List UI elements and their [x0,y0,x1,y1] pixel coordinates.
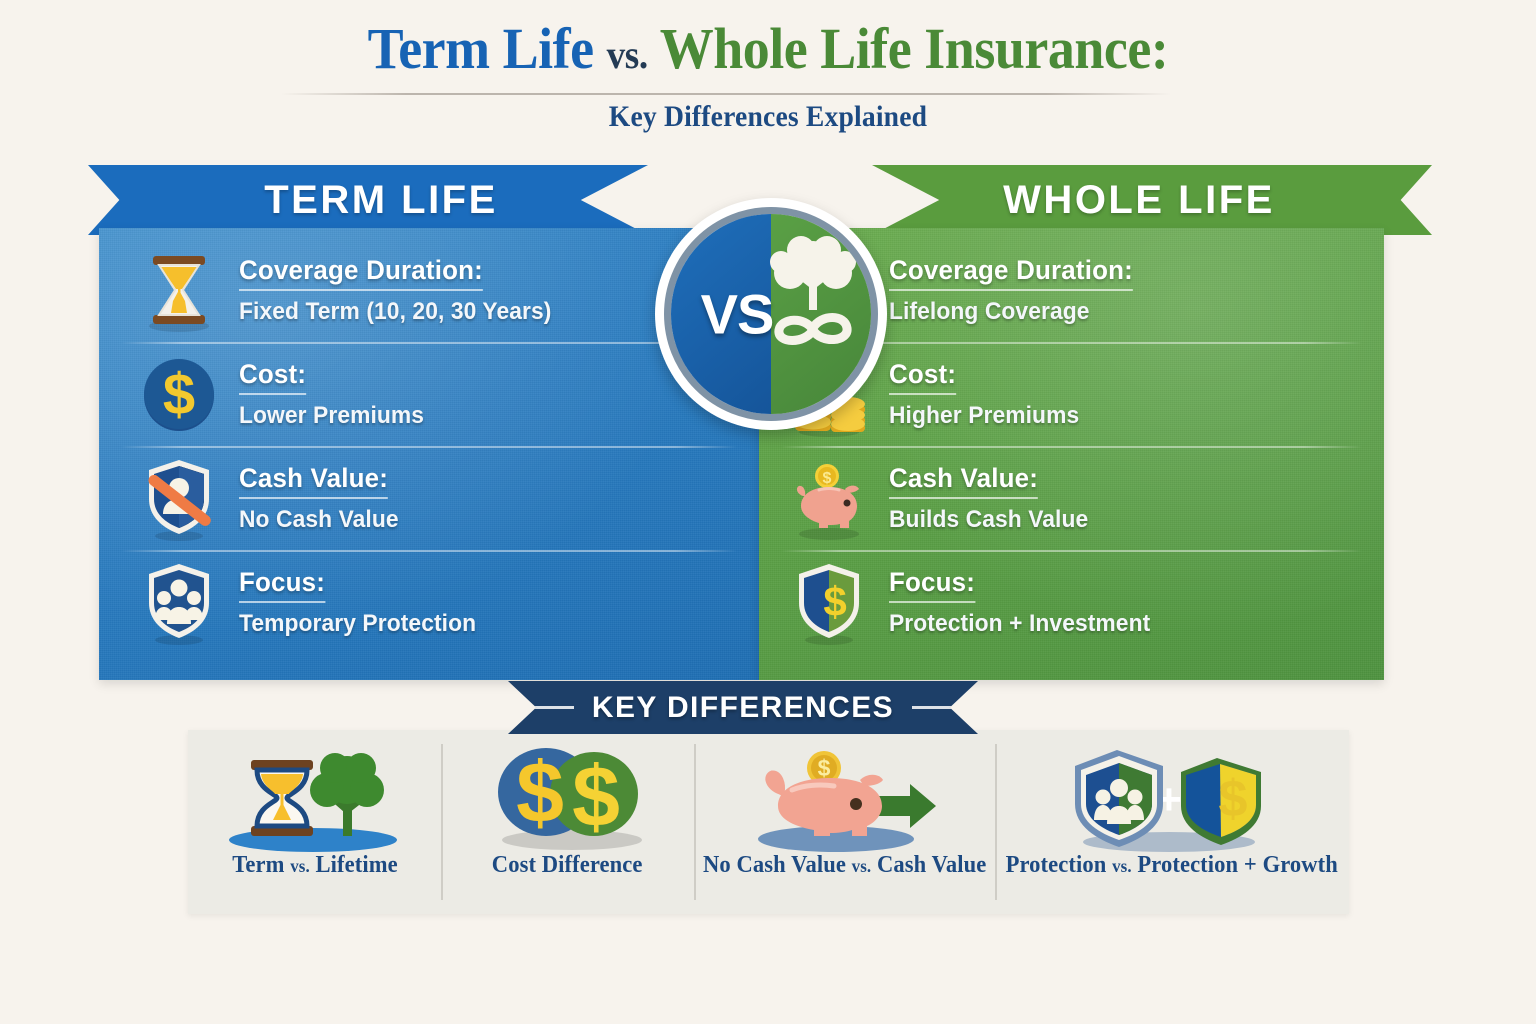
term-row-text: Cost: Lower Premiums [239,359,434,430]
svg-text:$: $ [823,470,832,487]
row-label: Cost: [889,359,956,395]
row-value: Temporary Protection [239,610,476,638]
row-value: No Cash Value [239,506,399,534]
svg-text:$: $ [163,362,195,427]
banner-dash-right [912,706,964,709]
svg-text:$: $ [516,745,564,841]
row-value: Protection + Investment [889,610,1150,638]
kd-card-term-vs-lifetime: Term vs. Lifetime [188,730,441,914]
dollar-coin-icon: $ [133,350,225,438]
term-row-focus: Focus: Temporary Protection [99,550,759,654]
row-label: Focus: [889,567,975,603]
whole-row-text: Cash Value: Builds Cash Value [889,463,1099,534]
kd-label-main: Protection [1006,852,1107,878]
kd-card-label: Protection vs. Protection + Growth [1006,852,1338,879]
row-label: Focus: [239,567,325,603]
whole-row-cash-value: $ Cash Value: Builds Cash Value [759,446,1384,550]
row-label: Cash Value: [889,463,1038,499]
row-label: Coverage Duration: [239,255,483,291]
whole-row-text: Coverage Duration: Lifelong Coverage [889,255,1143,326]
term-row-text: Coverage Duration: Fixed Term (10, 20, 3… [239,255,568,326]
row-value: Higher Premiums [889,402,1079,430]
two-dollars-icon: $ $ [468,744,668,852]
kd-card-label: Cost Difference [492,852,643,879]
whole-row-focus: $ Focus: Protection + Investment [759,550,1384,654]
shield-crossed-out-icon [133,454,225,542]
whole-row-text: Cost: Higher Premiums [889,359,1089,430]
whole-life-banner: WHOLE LIFE [872,165,1432,235]
term-row-cost: $ Cost: Lower Premiums [99,342,759,446]
row-value: Builds Cash Value [889,506,1088,534]
kd-label-vs: vs. [1113,856,1133,876]
kd-card-cash-value: $ No Cash Value vs. Cash Value [694,730,995,914]
svg-text:$: $ [572,749,620,845]
kd-card-label: No Cash Value vs. Cash Value [703,852,986,879]
key-differences-label: KEY DIFFERENCES [592,691,894,725]
term-row-cash-value: Cash Value: No Cash Value [99,446,759,550]
two-shields-icon: $ + [1057,744,1287,852]
kd-label-main: No Cash Value [703,852,846,878]
svg-text:$: $ [823,578,846,625]
svg-text:$: $ [817,755,830,781]
kd-label-tail: Lifetime [315,852,397,878]
shield-dollar-icon: $ [783,558,875,646]
svg-text:$: $ [1219,770,1248,828]
kd-label-vs: vs. [290,856,310,876]
kd-label-tail: Cash Value [877,852,986,878]
tree-infinity-icon [759,232,867,372]
kd-card-protection-growth: $ + Protection [995,730,1349,914]
kd-card-label: Term vs. Lifetime [232,852,397,879]
key-differences-banner: KEY DIFFERENCES [508,681,978,734]
vs-ring: VS [664,207,878,421]
row-label: Cash Value: [239,463,388,499]
whole-row-text: Focus: Protection + Investment [889,567,1164,638]
hourglass-icon [133,246,225,334]
shield-family-icon [133,558,225,646]
kd-label-vs: vs. [852,856,872,876]
kd-card-cost-difference: $ $ Cost Difference [441,730,694,914]
piggy-bank-pink-icon: $ [783,454,875,542]
term-life-banner-label: TERM LIFE [264,178,498,223]
term-life-banner: TERM LIFE [88,165,648,235]
kd-label-tail: Protection + Growth [1138,852,1339,878]
row-value: Fixed Term (10, 20, 30 Years) [239,298,551,326]
row-value: Lifelong Coverage [889,298,1130,326]
whole-life-banner-label: WHOLE LIFE [1003,178,1275,223]
key-differences-strip: Term vs. Lifetime $ $ Cost Difference [188,730,1349,914]
vs-badge: VS [655,198,887,430]
kd-label-main: Cost Difference [492,852,643,878]
piggy-arrow-icon: $ [740,744,950,852]
row-label: Cost: [239,359,306,395]
banner-dash-left [522,706,574,709]
row-value: Lower Premiums [239,402,424,430]
kd-label-main: Term [232,852,284,878]
term-row-text: Cash Value: No Cash Value [239,463,407,534]
term-row-text: Focus: Temporary Protection [239,567,489,638]
hourglass-tree-icon [215,744,415,852]
row-label: Coverage Duration: [889,255,1133,291]
